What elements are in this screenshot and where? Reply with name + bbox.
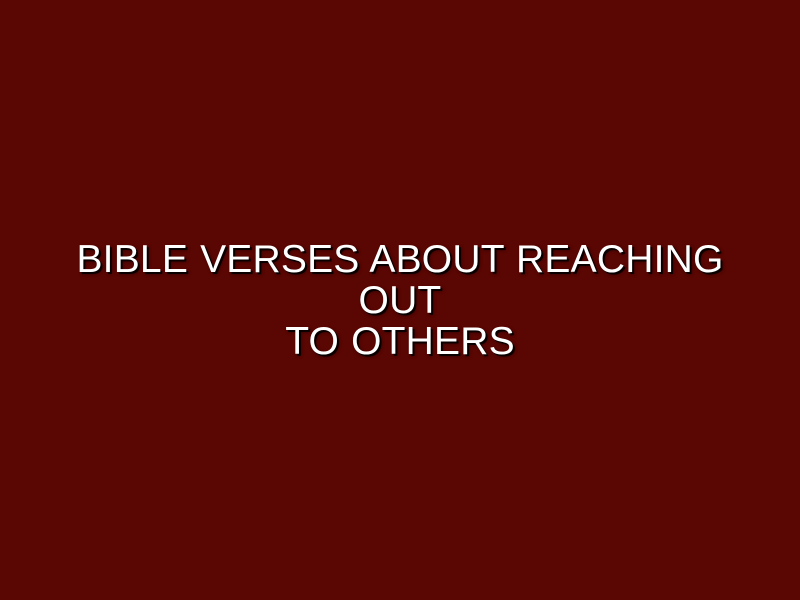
page-title-line-1: BIBLE VERSES ABOUT REACHING OUT — [40, 239, 760, 321]
hero-banner: BIBLE VERSES ABOUT REACHING OUT TO OTHER… — [0, 0, 800, 600]
page-title-line-2: TO OTHERS — [40, 321, 760, 362]
page-title: BIBLE VERSES ABOUT REACHING OUT TO OTHER… — [0, 239, 800, 362]
